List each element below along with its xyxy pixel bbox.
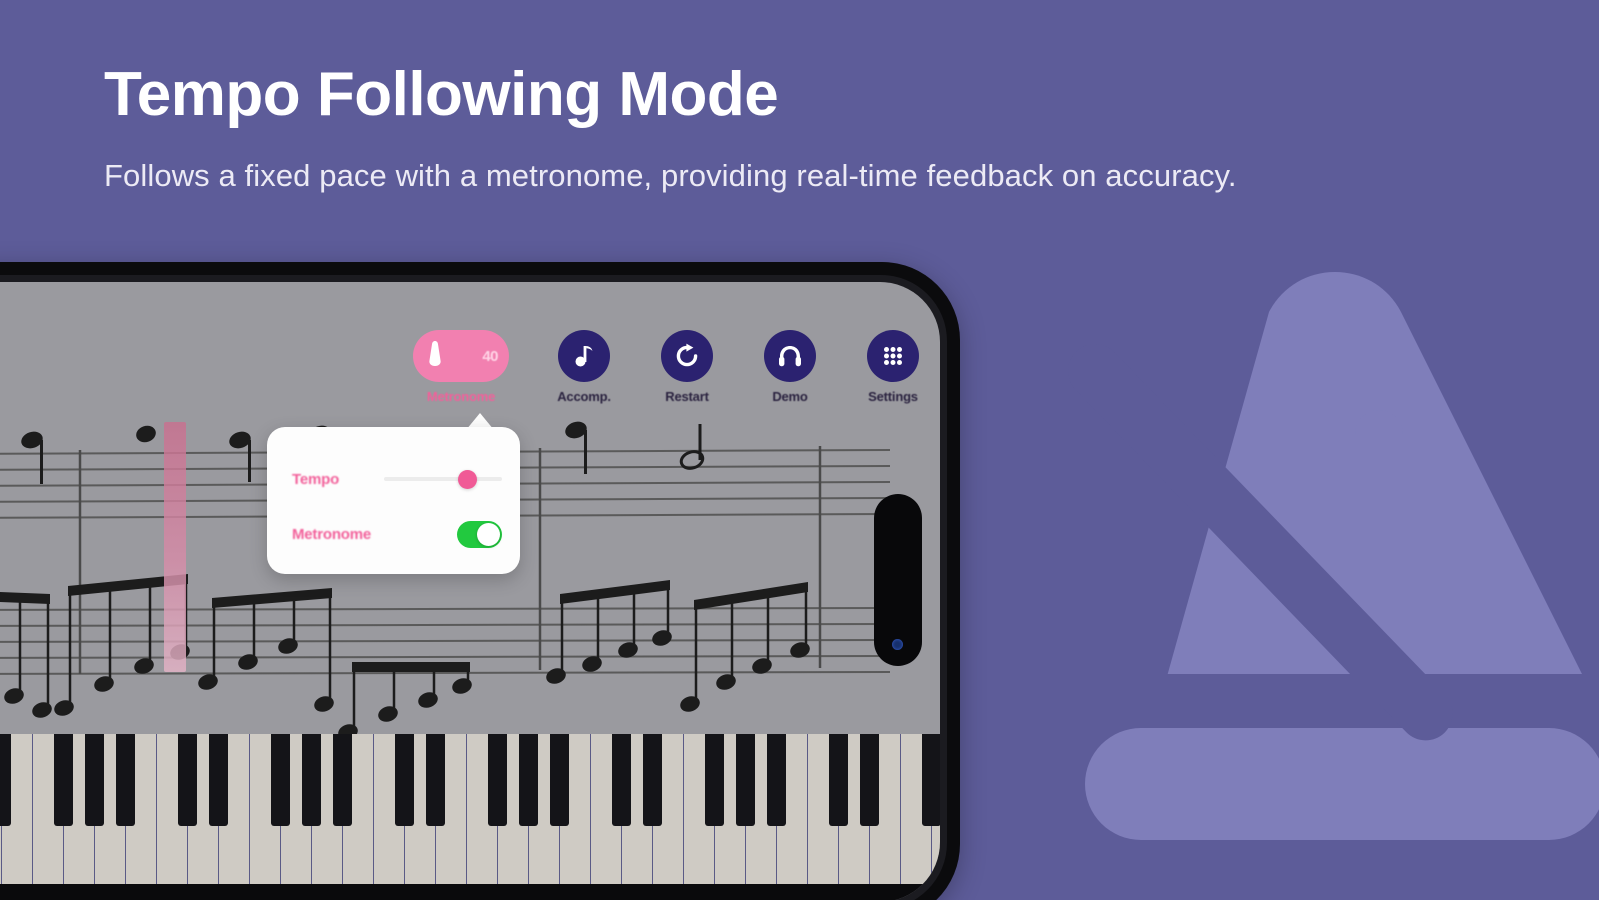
app-promo-screenshot: Tempo Following Mode Follows a fixed pac… xyxy=(0,0,1599,900)
black-key[interactable] xyxy=(612,734,631,826)
black-key[interactable] xyxy=(643,734,662,826)
toolbar-item-restart[interactable]: Restart xyxy=(656,330,718,404)
black-key[interactable] xyxy=(209,734,228,826)
toolbar-label-demo: Demo xyxy=(772,389,807,404)
headphones-icon[interactable] xyxy=(764,330,816,382)
black-key[interactable] xyxy=(271,734,290,826)
white-keys[interactable] xyxy=(0,734,940,884)
black-key[interactable] xyxy=(488,734,507,826)
black-key[interactable] xyxy=(426,734,445,826)
black-key[interactable] xyxy=(54,734,73,826)
black-key[interactable] xyxy=(395,734,414,826)
black-key[interactable] xyxy=(85,734,104,826)
black-key[interactable] xyxy=(302,734,321,826)
phone-screen: 40 Metronome Accomp. xyxy=(0,282,940,900)
black-key[interactable] xyxy=(860,734,879,826)
tempo-slider[interactable] xyxy=(384,469,502,489)
dynamic-island xyxy=(874,494,922,666)
grid-dots-icon[interactable] xyxy=(867,330,919,382)
black-key[interactable] xyxy=(705,734,724,826)
black-key[interactable] xyxy=(519,734,538,826)
metronome-switch[interactable] xyxy=(457,521,502,548)
music-note-icon[interactable] xyxy=(558,330,610,382)
app-toolbar: 40 Metronome Accomp. xyxy=(410,330,924,404)
black-key[interactable] xyxy=(550,734,569,826)
toolbar-label-accomp: Accomp. xyxy=(557,389,611,404)
page-title: Tempo Following Mode xyxy=(104,62,778,127)
metronome-label: Metronome xyxy=(292,526,384,543)
black-key[interactable] xyxy=(116,734,135,826)
toolbar-label-restart: Restart xyxy=(665,389,708,404)
toolbar-item-metronome[interactable]: 40 Metronome xyxy=(410,330,512,404)
tempo-slider-track xyxy=(384,477,502,481)
black-key[interactable] xyxy=(736,734,755,826)
black-key[interactable] xyxy=(767,734,786,826)
tempo-row: Tempo xyxy=(292,469,502,489)
phone-bezel: 40 Metronome Accomp. xyxy=(0,275,947,900)
metronome-logo-watermark xyxy=(1040,250,1599,840)
metronome-switch-knob xyxy=(477,523,500,546)
playback-cursor xyxy=(164,422,186,672)
toolbar-item-accomp[interactable]: Accomp. xyxy=(553,330,615,404)
black-key[interactable] xyxy=(829,734,848,826)
metronome-bpm-value: 40 xyxy=(482,348,498,365)
page-subtitle: Follows a fixed pace with a metronome, p… xyxy=(104,158,1237,194)
black-key[interactable] xyxy=(333,734,352,826)
black-key[interactable] xyxy=(922,734,940,826)
black-key[interactable] xyxy=(0,734,11,826)
metronome-toggle-pill[interactable]: 40 xyxy=(413,330,509,382)
toolbar-label-metronome: Metronome xyxy=(427,389,495,404)
header-banner: Tempo Following Mode Follows a fixed pac… xyxy=(0,0,1599,255)
phone-mockup: 40 Metronome Accomp. xyxy=(0,262,960,900)
metronome-row: Metronome xyxy=(292,521,502,548)
restart-icon[interactable] xyxy=(661,330,713,382)
front-camera-lens xyxy=(892,639,903,650)
metronome-settings-popup: Tempo Metronome xyxy=(267,427,520,574)
metronome-icon xyxy=(424,339,446,374)
black-key[interactable] xyxy=(178,734,197,826)
toolbar-item-demo[interactable]: Demo xyxy=(759,330,821,404)
piano-keyboard[interactable] xyxy=(0,734,940,900)
tempo-slider-thumb[interactable] xyxy=(458,470,477,489)
toolbar-item-settings[interactable]: Settings xyxy=(862,330,924,404)
tempo-label: Tempo xyxy=(292,471,384,488)
toolbar-label-settings: Settings xyxy=(868,389,918,404)
